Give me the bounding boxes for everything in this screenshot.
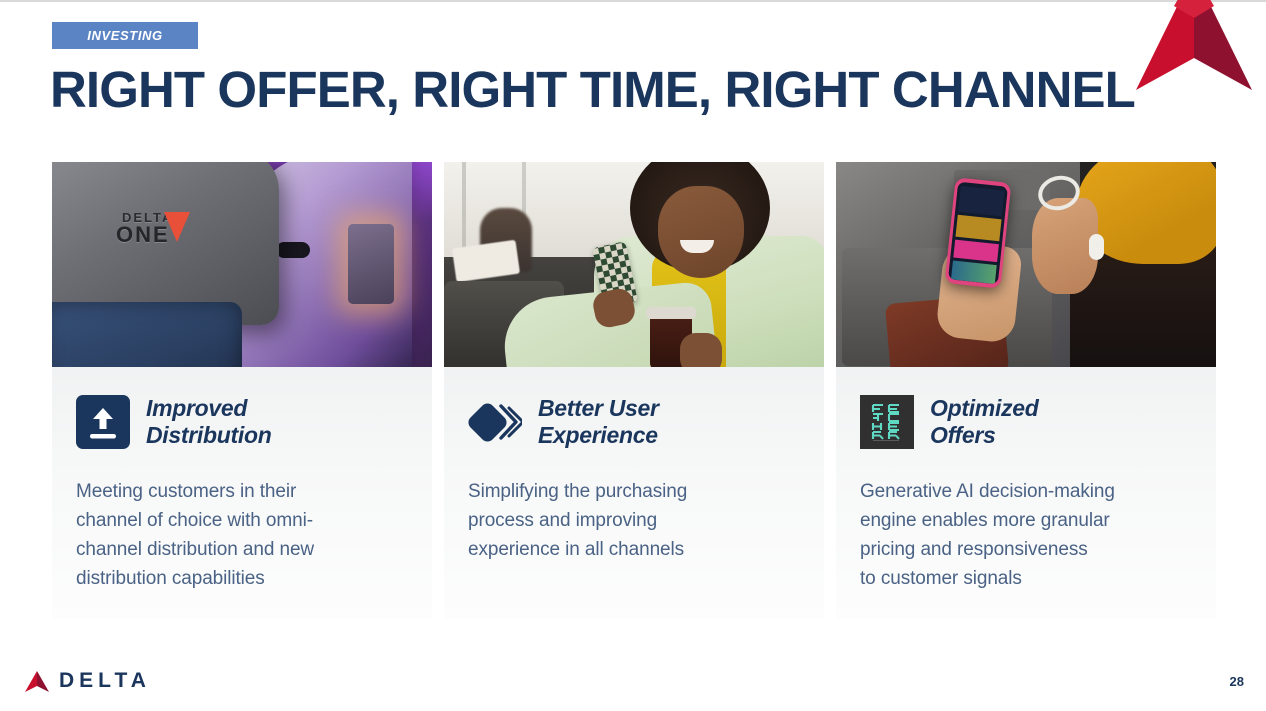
top-divider-rule [0, 0, 1266, 2]
suite-handle [276, 242, 310, 258]
card-description: Simplifying the purchasing process and i… [468, 477, 800, 564]
delta-triangle-icon [24, 670, 50, 693]
suite-screen [348, 224, 394, 304]
card-heading-row: Optimized Offers [860, 395, 1192, 449]
card-body: Better User Experience Simplifying the p… [444, 367, 824, 619]
delta-one-suite-photo: DELTA ONE [52, 162, 432, 367]
card-heading-row: Better User Experience [468, 395, 800, 449]
wireless-earbud-icon [1089, 234, 1104, 260]
page-title: RIGHT OFFER, RIGHT TIME, RIGHT CHANNEL [50, 59, 1230, 121]
card-heading: Better User Experience [538, 395, 659, 449]
seat-one-wordmark: ONE [116, 222, 170, 248]
seat-cushion [52, 302, 242, 367]
diamond-chevrons-icon [468, 395, 522, 449]
page-number: 28 [1230, 674, 1244, 689]
traveler-hand-cup [680, 333, 722, 367]
inflight-app-photo [836, 162, 1216, 367]
card-heading: Optimized Offers [930, 395, 1038, 449]
passenger-phone [945, 177, 1012, 288]
feature-card-row: DELTA ONE Improved Distribution Meeting … [52, 162, 1216, 619]
airport-traveler-phone-photo [444, 162, 824, 367]
app-destination-image [951, 261, 997, 284]
fetcherr-logo-icon [860, 395, 914, 449]
traveler-face [658, 186, 744, 278]
app-header-card [958, 186, 1004, 216]
seat-delta-triangle-icon [164, 212, 190, 242]
card-heading: Improved Distribution [146, 395, 271, 449]
delta-footer-logo: DELTA [24, 669, 151, 693]
feature-card-improved-distribution: DELTA ONE Improved Distribution Meeting … [52, 162, 432, 619]
eyebrow-label: INVESTING [87, 28, 162, 43]
eyebrow-badge: INVESTING [52, 22, 198, 49]
upload-distribution-icon [76, 395, 130, 449]
feature-card-optimized-offers: Optimized Offers Generative AI decision-… [836, 162, 1216, 619]
card-body: Improved Distribution Meeting customers … [52, 367, 432, 619]
delta-app-screen [948, 182, 1008, 285]
seat-back: DELTA ONE [52, 162, 279, 325]
cup-lid [646, 307, 696, 319]
card-heading-row: Improved Distribution [76, 395, 408, 449]
card-description: Generative AI decision-making engine ena… [860, 477, 1192, 593]
card-description: Meeting customers in their channel of ch… [76, 477, 408, 593]
card-body: Optimized Offers Generative AI decision-… [836, 367, 1216, 619]
app-offer-card-pink [953, 240, 999, 263]
feature-card-better-user-experience: Better User Experience Simplifying the p… [444, 162, 824, 619]
delta-wordmark: DELTA [59, 669, 151, 693]
app-offer-card-gold [955, 215, 1001, 241]
